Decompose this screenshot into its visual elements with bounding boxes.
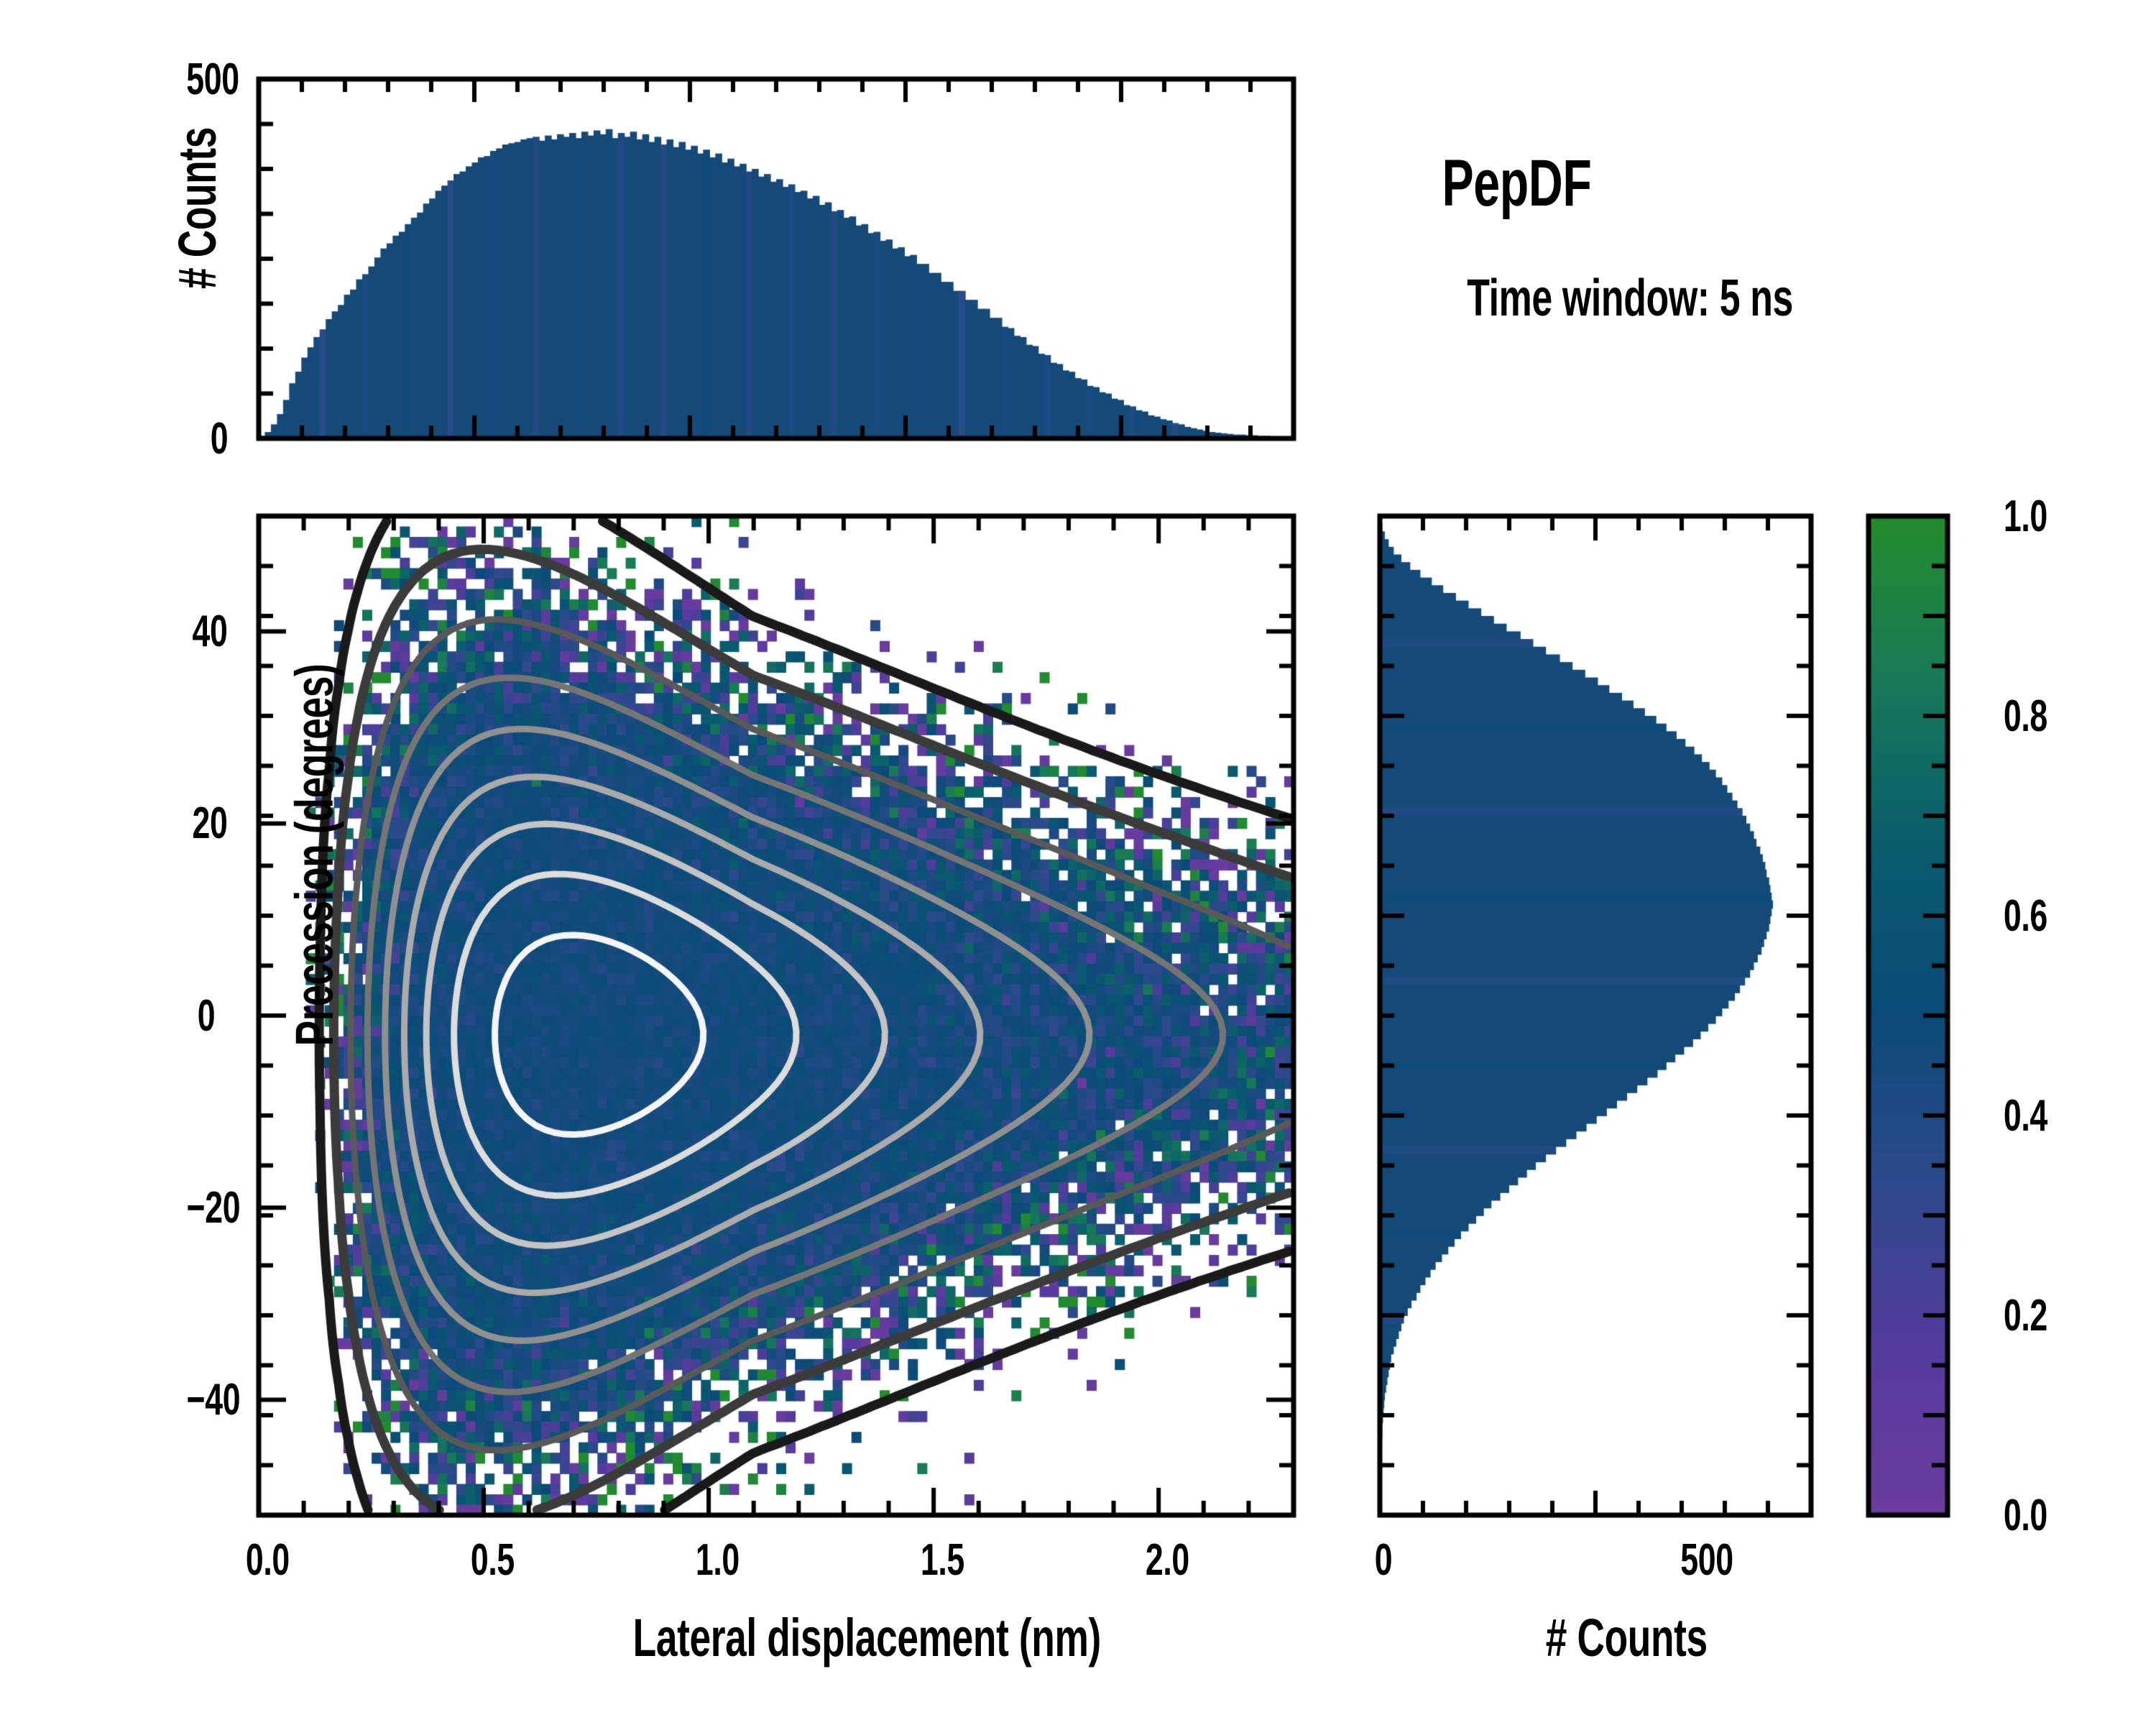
colorbar-tick-1: 0.2	[2003, 1290, 2047, 1341]
main-xtick-1: 0.5	[470, 1535, 514, 1586]
main-ytick-1: 20	[192, 798, 227, 849]
top-hist-ytick-0: 0	[211, 413, 228, 464]
main-xtick-2: 1.0	[695, 1535, 739, 1586]
right-hist-xtick-0: 0	[1375, 1535, 1392, 1586]
main-xtick-3: 1.5	[920, 1535, 964, 1586]
main-ytick-3: −20	[186, 1182, 240, 1233]
right-hist-xlabel: # Counts	[1546, 1607, 1708, 1668]
right-hist-xtick-1: 500	[1681, 1535, 1733, 1586]
main-xtick-4: 2.0	[1146, 1535, 1189, 1586]
main-ylabel: Precession (degrees)	[283, 664, 344, 1046]
colorbar-tick-0: 0.0	[2003, 1490, 2047, 1541]
figure-root: 500 0 # Counts PepDF Time window: 5 ns L…	[0, 0, 2156, 1725]
colorbar-tick-4: 0.8	[2003, 691, 2047, 742]
main-ytick-0: 40	[192, 606, 227, 657]
main-xtick-0: 0.0	[245, 1535, 289, 1586]
colorbar-tick-3: 0.6	[2003, 891, 2047, 942]
page-subtitle: Time window: 5 ns	[1467, 269, 1793, 328]
main-xlabel: Lateral displacement (nm)	[633, 1607, 1101, 1668]
main-ytick-2: 0	[198, 990, 215, 1041]
top-hist-ylabel: # Counts	[166, 127, 227, 289]
colorbar-tick-5: 1.0	[2003, 491, 2047, 542]
page-title: PepDF	[1442, 146, 1591, 221]
main-ytick-4: −40	[186, 1374, 240, 1425]
colorbar-tick-2: 0.4	[2003, 1090, 2047, 1141]
top-hist-ytick-500: 500	[187, 54, 239, 105]
